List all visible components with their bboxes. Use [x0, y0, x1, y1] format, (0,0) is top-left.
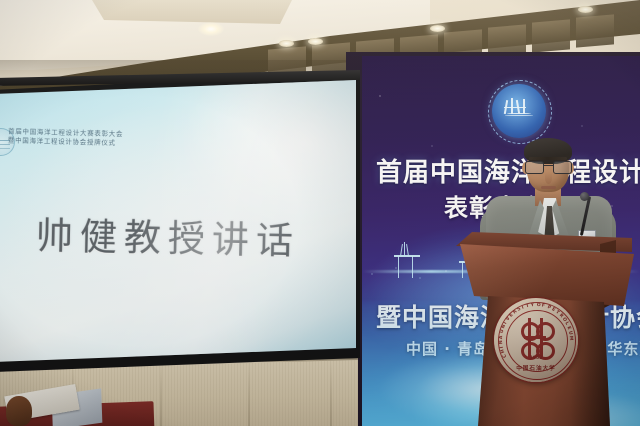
projection-screen: 首届中国海洋工程设计大赛表彰大会 暨中国海洋工程设计协会授牌仪式 帅健教授讲话 — [0, 80, 356, 362]
speaker-brow — [529, 157, 567, 160]
glasses-icon — [525, 161, 571, 172]
banner-line-1: 首届中国海洋工程设计大赛 — [376, 152, 640, 189]
recessed-downlight-icon — [279, 40, 294, 47]
speaker-mouth — [541, 186, 556, 189]
microphone-head-icon — [580, 192, 589, 201]
foreground-attendee-head — [6, 396, 32, 426]
slide-main-title: 帅健教授讲话 — [35, 205, 300, 265]
downlight-glow — [198, 22, 224, 36]
conference-photo: 首届中国海洋工程设计大赛表彰大会 暨中国海洋工程设计协会授牌仪式 帅健教授讲话 … — [0, 0, 640, 426]
speaker-nose — [545, 172, 552, 184]
offshore-platform-logo-icon — [492, 84, 546, 138]
recessed-downlight-icon — [578, 6, 593, 13]
slide-header: 首届中国海洋工程设计大赛表彰大会 暨中国海洋工程设计协会授牌仪式 — [8, 127, 238, 151]
recessed-downlight-icon — [308, 38, 323, 45]
university-emblem: CH IN AU NI VE RS IT YO FP ET RO LE UM 1… — [494, 298, 578, 382]
offshore-rig-silhouette — [392, 242, 422, 276]
recessed-downlight-icon — [430, 25, 445, 32]
